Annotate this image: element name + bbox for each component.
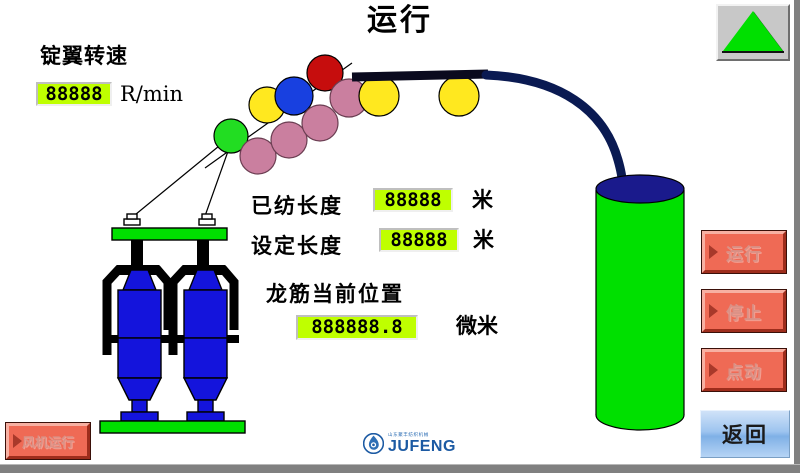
- rail-position-unit: 微米: [456, 314, 498, 339]
- triangle-base: [722, 51, 784, 53]
- arrow-right-icon: [709, 245, 718, 259]
- bottom-status-bar: [0, 464, 800, 473]
- stop-button[interactable]: 停止: [702, 290, 786, 332]
- jog-button-label: 点动: [726, 358, 762, 383]
- back-button[interactable]: 返回: [700, 410, 790, 458]
- stop-button-label: 停止: [726, 299, 762, 324]
- brand-logo: 山东聚丰纺织机械 JUFENG: [363, 424, 467, 454]
- brand-english: JUFENG: [388, 439, 456, 454]
- set-length-value[interactable]: 88888: [379, 228, 459, 252]
- running-indicator[interactable]: [716, 4, 790, 61]
- jufeng-mark-icon: [363, 433, 384, 454]
- spun-length-value[interactable]: 88888: [373, 188, 453, 212]
- run-button[interactable]: 运行: [702, 231, 786, 273]
- triangle-up-icon: [723, 11, 783, 51]
- fan-run-button[interactable]: 风机运行: [6, 423, 90, 459]
- arrow-right-icon: [13, 434, 22, 448]
- flyer-speed-unit: R/min: [120, 82, 183, 106]
- hmi-screen: 运行: [0, 0, 800, 473]
- set-length-label: 设定长度: [251, 230, 343, 260]
- page-title: 运行: [0, 2, 800, 40]
- flyer-speed-label: 锭翼转速: [40, 40, 128, 70]
- set-length-unit: 米: [473, 228, 494, 252]
- arrow-right-icon: [709, 363, 718, 377]
- flyer-speed-value[interactable]: 88888: [36, 82, 112, 106]
- run-button-label: 运行: [726, 240, 762, 265]
- jog-button[interactable]: 点动: [702, 349, 786, 391]
- right-divider: [794, 0, 800, 464]
- back-button-label: 返回: [722, 419, 768, 449]
- spun-length-unit: 米: [472, 188, 493, 212]
- arrow-right-icon: [709, 304, 718, 318]
- rail-position-value[interactable]: 888888.8: [296, 315, 418, 340]
- rail-position-label: 龙筋当前位置: [266, 278, 404, 308]
- fan-run-button-label: 风机运行: [22, 432, 74, 451]
- spun-length-label: 已纺长度: [251, 190, 343, 220]
